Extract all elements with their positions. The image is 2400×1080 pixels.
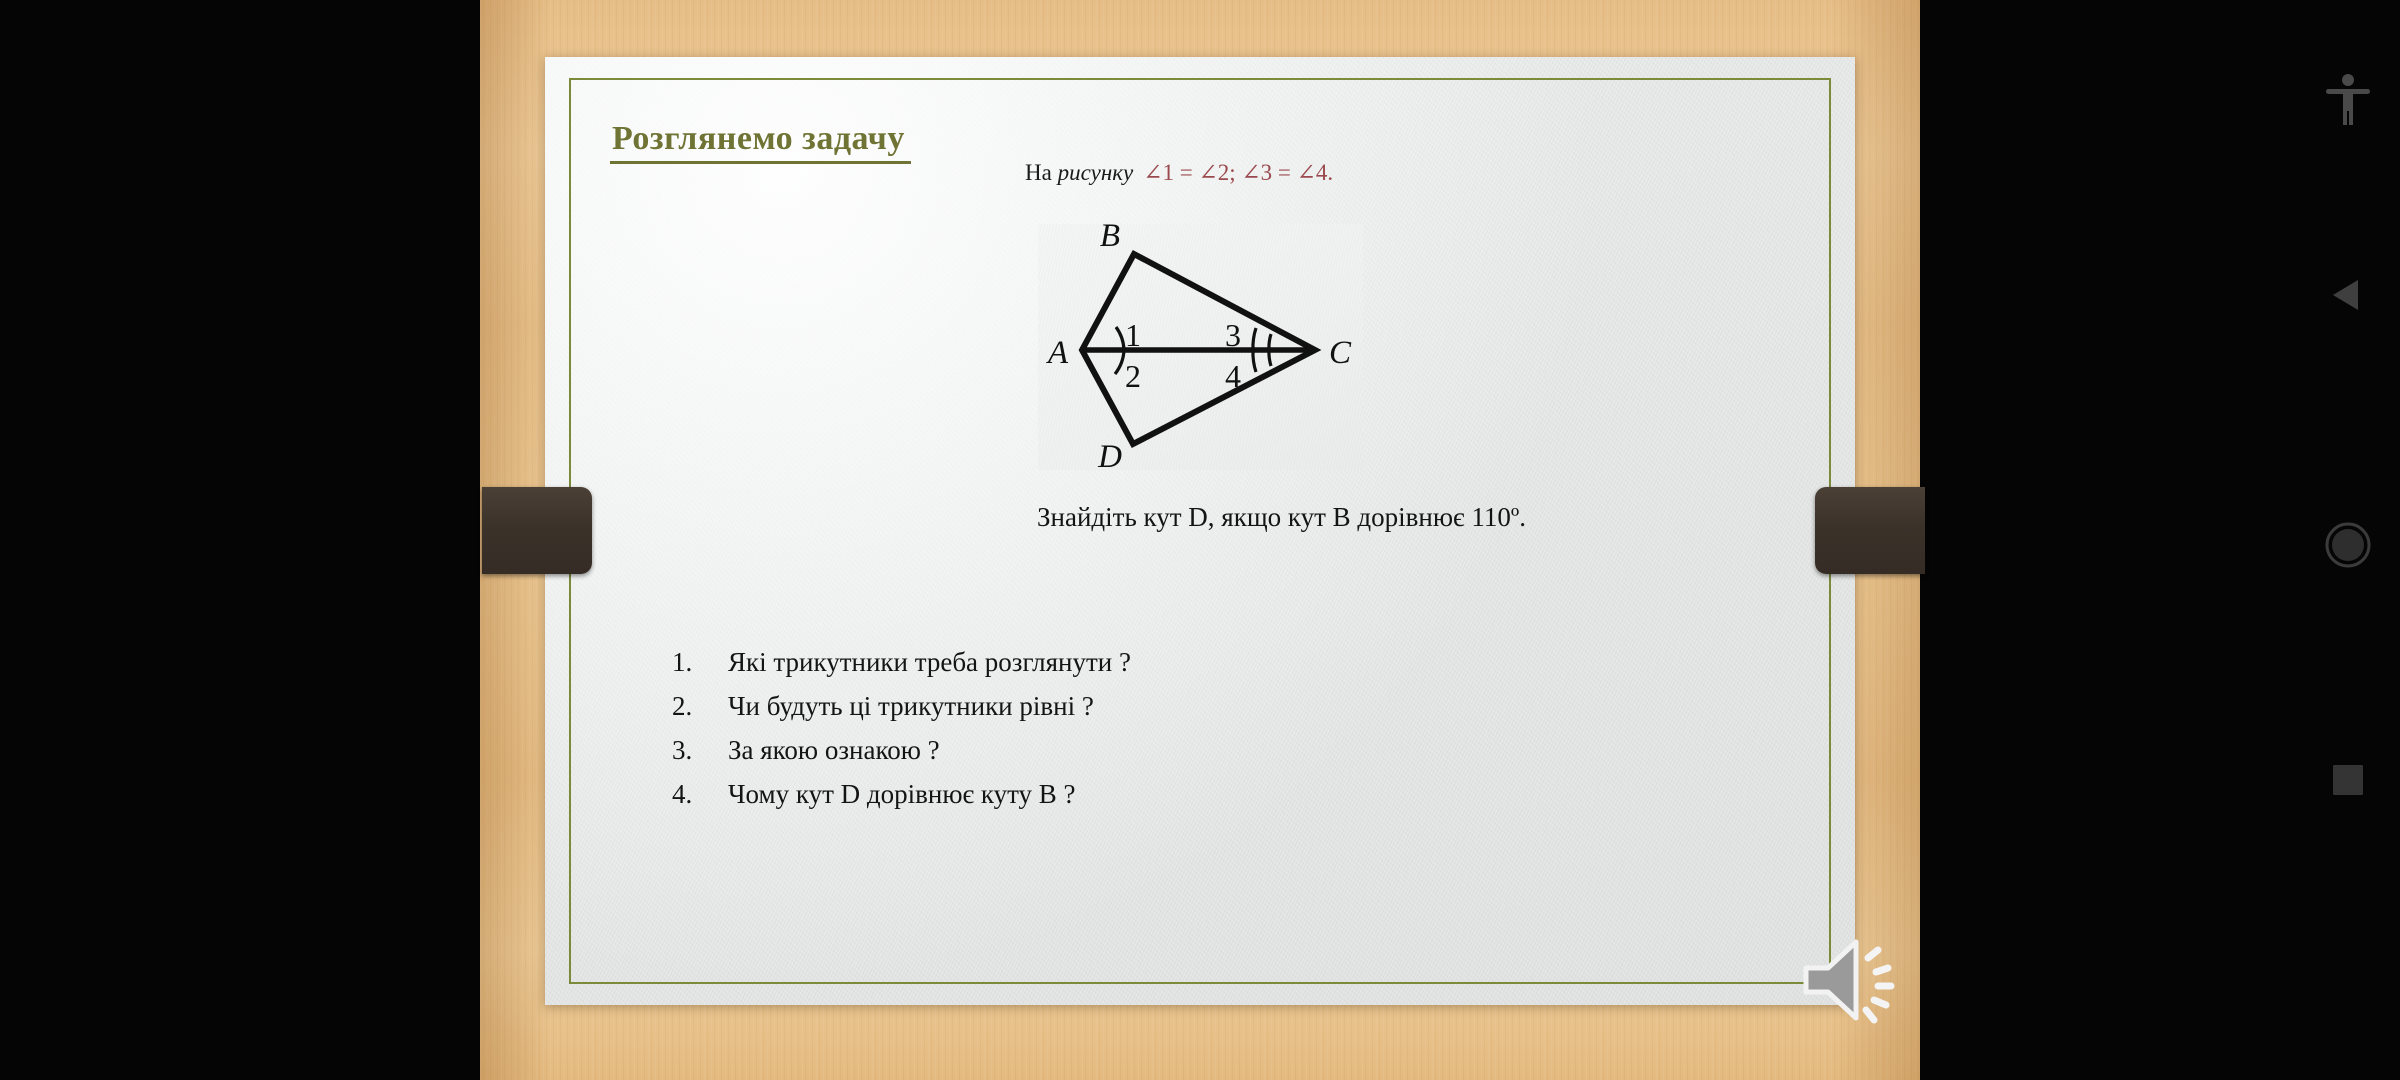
recents-button[interactable] xyxy=(2296,745,2400,815)
speaker-icon[interactable] xyxy=(1798,930,1914,1028)
angle-arc-3-outer xyxy=(1253,328,1256,350)
list-item: 3. За якою ознакою ? xyxy=(672,728,1572,772)
accessibility-button[interactable] xyxy=(2296,65,2400,135)
vertex-label-b: B xyxy=(1100,224,1120,254)
angle-arc-2 xyxy=(1115,350,1124,374)
given-emphasis: рисунку xyxy=(1058,160,1134,185)
quadrilateral-diagram-icon: B A C D 1 2 3 4 xyxy=(1038,224,1363,470)
list-item: 1. Які трикутники треба розглянути ? xyxy=(672,640,1572,684)
angle-label-3: 3 xyxy=(1225,317,1241,353)
speaker-waves xyxy=(1866,950,1891,1020)
list-item: 2. Чи будуть ці трикутники рівні ? xyxy=(672,684,1572,728)
list-item-number: 3. xyxy=(672,728,728,772)
given-prefix: На xyxy=(1025,160,1058,185)
speaker-body xyxy=(1806,942,1856,1018)
list-item-label: Чи будуть ці трикутники рівні ? xyxy=(728,684,1094,728)
list-item-label: Чому кут D дорівнює куту B ? xyxy=(728,772,1076,816)
given-angles: ∠1 = ∠2; ∠3 = ∠4. xyxy=(1133,160,1333,185)
vertex-label-d: D xyxy=(1097,439,1122,470)
angle-label-4: 4 xyxy=(1225,358,1241,394)
list-item-number: 1. xyxy=(672,640,728,684)
angle-arc-1 xyxy=(1116,327,1124,350)
page-title: Розглянемо задачу xyxy=(610,120,911,164)
given-condition-line: На рисунку∠1 = ∠2; ∠3 = ∠4. xyxy=(1025,160,1333,186)
home-button[interactable] xyxy=(2296,510,2400,580)
list-item-number: 4. xyxy=(672,772,728,816)
list-item-label: За якою ознакою ? xyxy=(728,728,940,772)
list-item: 4. Чому кут D дорівнює куту B ? xyxy=(672,772,1572,816)
accessibility-icon xyxy=(2324,73,2372,127)
recents-square-icon xyxy=(2331,763,2365,797)
list-item-label: Які трикутники треба розглянути ? xyxy=(728,640,1131,684)
angle-arc-4-outer xyxy=(1253,350,1256,372)
list-item-number: 2. xyxy=(672,684,728,728)
find-angle-question: Знайдіть кут D, якщо кут B дорівнює 110º… xyxy=(1037,502,1526,533)
back-button[interactable] xyxy=(2296,260,2400,330)
vertex-label-c: C xyxy=(1329,335,1352,371)
question-list: 1. Які трикутники треба розглянути ? 2. … xyxy=(672,640,1572,816)
vertex-label-a: A xyxy=(1046,335,1069,371)
easel-clip-left xyxy=(482,487,592,574)
angle-label-1: 1 xyxy=(1125,317,1141,353)
android-nav-rail xyxy=(2296,0,2400,1080)
back-triangle-icon xyxy=(2328,275,2368,315)
angle-label-2: 2 xyxy=(1125,358,1141,394)
easel-clip-right xyxy=(1815,487,1925,574)
geometry-figure-panel: B A C D 1 2 3 4 xyxy=(1038,224,1363,470)
screen: Розглянемо задачу На рисунку∠1 = ∠2; ∠3 … xyxy=(0,0,2400,1080)
home-circle-icon xyxy=(2324,521,2372,569)
